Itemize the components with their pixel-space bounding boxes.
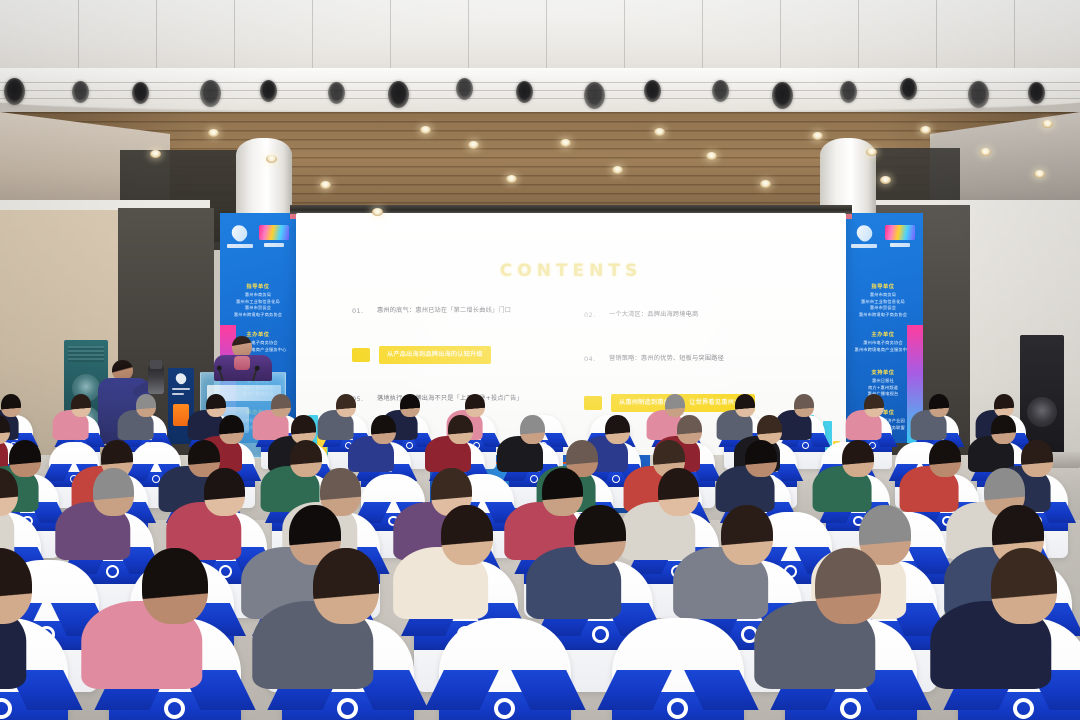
ceiling-downlight [1034, 170, 1045, 178]
ceiling-downlight [420, 126, 431, 134]
audience-member-head [794, 394, 814, 417]
contents-item-number: 04. [584, 355, 600, 363]
audience-member-head [735, 394, 755, 417]
slide-title: CONTENTS [296, 261, 846, 281]
audience-member-head [542, 468, 583, 516]
ceiling-panel-seam [390, 0, 391, 72]
audience-member-head [665, 394, 685, 417]
ceiling-spotlight [388, 81, 409, 108]
ceiling-upper-panel [0, 0, 1080, 72]
ceiling-spotlight [132, 82, 149, 104]
ceiling-spotlight [200, 80, 221, 107]
ceiling-spotlight [900, 78, 917, 100]
conference-hall-scene: 指导单位惠州市商务局惠州市工业和信息化局惠州市贸促会惠州市跨境电子商务协会主办单… [0, 0, 1080, 720]
ceiling-spotlight [840, 81, 857, 103]
audience-member-head [9, 440, 41, 477]
ceiling-panel-seam [234, 0, 235, 72]
audience-member-head [994, 394, 1014, 417]
audience-member-head [71, 394, 91, 417]
contents-item-text: 营销策略：惠州的优势、短板与突围路径 [609, 354, 724, 364]
ceiling-light-band [0, 68, 1080, 114]
chair-sash-buckle [592, 626, 609, 643]
ceiling-spotlight [1028, 82, 1045, 104]
audience-member-head [1, 394, 21, 417]
audience-member-head [206, 394, 226, 417]
ceiling-spotlight [772, 82, 793, 109]
banner-section-heading: 指导单位 [843, 283, 923, 290]
banner-section-lines: 惠州市商务局惠州市工业和信息化局惠州市贸促会惠州市跨境电子商务协会 [843, 292, 923, 318]
chair-sash-buckle [406, 442, 413, 449]
chair-sash-buckle [802, 442, 809, 449]
audience-member-head [721, 505, 773, 565]
banner-right-logos [843, 225, 923, 259]
ceiling-spotlight [712, 80, 729, 102]
ceiling-downlight [266, 155, 277, 163]
contents-item: 01.惠州的底气：惠州已站在「第二增长曲线」门口 [352, 301, 560, 321]
contents-item: 04.营销策略：惠州的优势、短板与突围路径 [584, 349, 792, 369]
audience-member-head [371, 415, 396, 444]
audience-member-head [204, 468, 245, 516]
audience-member-head [271, 394, 291, 417]
audience-member-head [400, 394, 420, 417]
light-band-rail [0, 82, 1080, 83]
contents-item-number: 02. [584, 311, 600, 319]
ceiling-panel-seam [780, 0, 781, 72]
ceiling-panel-seam [78, 0, 79, 72]
audience-member-head [991, 548, 1057, 625]
audience-member-head [658, 468, 699, 516]
ceiling-downlight [812, 132, 823, 140]
ceiling-panel-seam [312, 0, 313, 72]
audience-member-head [677, 415, 702, 444]
ceiling-panel-seam [156, 0, 157, 72]
water-drop-logo [851, 225, 877, 248]
audience-member-head [465, 394, 485, 417]
audience-member-head [991, 415, 1016, 444]
ceiling-downlight [320, 181, 331, 189]
audience-member-head [815, 548, 881, 625]
ceiling-panel-seam [936, 0, 937, 72]
ceiling-spotlight [260, 80, 277, 102]
audience-member-head [745, 440, 777, 477]
audience-member-head [336, 394, 356, 417]
ceiling-downlight [980, 148, 991, 156]
ceiling-spotlight [644, 80, 661, 102]
presenter-scarf [234, 356, 250, 370]
presenter [214, 336, 272, 380]
ceiling-downlight [760, 180, 771, 188]
audience-member-head [864, 394, 884, 417]
audience-member-head [290, 440, 322, 477]
ceiling-spotlight [72, 81, 89, 103]
ceiling-panel-seam [624, 0, 625, 72]
audience-member-head [520, 415, 545, 444]
ceiling-panel-seam [1014, 0, 1015, 72]
contents-item-number: 03. [352, 348, 370, 362]
audience-member-head [1021, 440, 1053, 477]
audience-member-head [142, 548, 208, 625]
audience-member-head [929, 394, 949, 417]
banner-section-heading: 指导单位 [220, 283, 296, 290]
audience-member-head [441, 505, 493, 565]
rainbow-block-logo [885, 225, 915, 247]
ceiling-downlight [920, 126, 931, 134]
ceiling-downlight [560, 139, 571, 147]
water-drop-logo [227, 225, 253, 248]
sign-line-2 [172, 393, 184, 395]
ceiling-downlight [372, 208, 383, 216]
contents-item-number: 01. [352, 307, 368, 315]
contents-item-text: 一个大湾区：品牌出海跨境电商 [609, 310, 698, 320]
contents-item: 03.从产品出海到品牌出海的认知升级 [352, 345, 560, 365]
audience-member-head [929, 440, 961, 477]
ceiling-spotlight [516, 81, 533, 103]
audience-member-head [93, 468, 134, 516]
contents-item-text: 惠州的底气：惠州已站在「第二增长曲线」门口 [377, 306, 511, 316]
contents-item: 02.一个大湾区：品牌出海跨境电商 [584, 305, 792, 325]
ceiling-spotlight [456, 78, 473, 100]
banner-section-lines: 惠州市商务局惠州市工业和信息化局惠州市贸促会惠州市跨境电子商务协会 [220, 292, 296, 318]
ceiling-panel-seam [546, 0, 547, 72]
ceiling-downlight [1042, 120, 1053, 128]
ceiling-spotlight [584, 82, 605, 109]
audience-member-head [448, 415, 473, 444]
banner-section: 指导单位惠州市商务局惠州市工业和信息化局惠州市贸促会惠州市跨境电子商务协会 [220, 283, 296, 318]
audience-member-head [605, 415, 630, 444]
ceiling-spotlight [328, 82, 345, 104]
audience-seating [0, 400, 1080, 720]
light-band-rail [0, 90, 1080, 91]
ceiling-downlight [612, 166, 623, 174]
ceiling-downlight [150, 150, 161, 158]
ceiling-downlight [468, 141, 479, 149]
rainbow-block-logo [259, 225, 289, 247]
ceiling-downlight [880, 176, 891, 184]
audience-chair [612, 618, 744, 720]
ceiling-downlight [208, 129, 219, 137]
ceiling-panel-seam [702, 0, 703, 72]
audience-member-head [574, 505, 626, 565]
banner-section: 指导单位惠州市商务局惠州市工业和信息化局惠州市贸促会惠州市跨境电子商务协会 [843, 283, 923, 318]
chair-sash-buckle [612, 475, 620, 483]
contents-item-text: 从产品出海到品牌出海的认知升级 [379, 346, 491, 364]
banner-left-logos [220, 225, 296, 259]
ceiling-panel-seam [858, 0, 859, 72]
ceiling-spotlight [968, 81, 989, 108]
ceiling-panel-seam [468, 0, 469, 72]
sign-drop-icon [174, 371, 189, 386]
column-left [236, 138, 292, 216]
audience-member-head [313, 548, 379, 625]
audience-member-head [136, 394, 156, 417]
ceiling-spotlight [4, 78, 25, 105]
audience-member-head [219, 415, 244, 444]
ceiling-downlight [866, 148, 877, 156]
audience-chair [439, 618, 571, 720]
audience-member-head [842, 440, 874, 477]
light-band-rail [0, 98, 1080, 99]
ceiling-downlight [654, 128, 665, 136]
video-camera [148, 366, 164, 394]
sign-line-1 [172, 388, 190, 390]
ceiling-downlight [506, 175, 517, 183]
ceiling-downlight [706, 152, 717, 160]
